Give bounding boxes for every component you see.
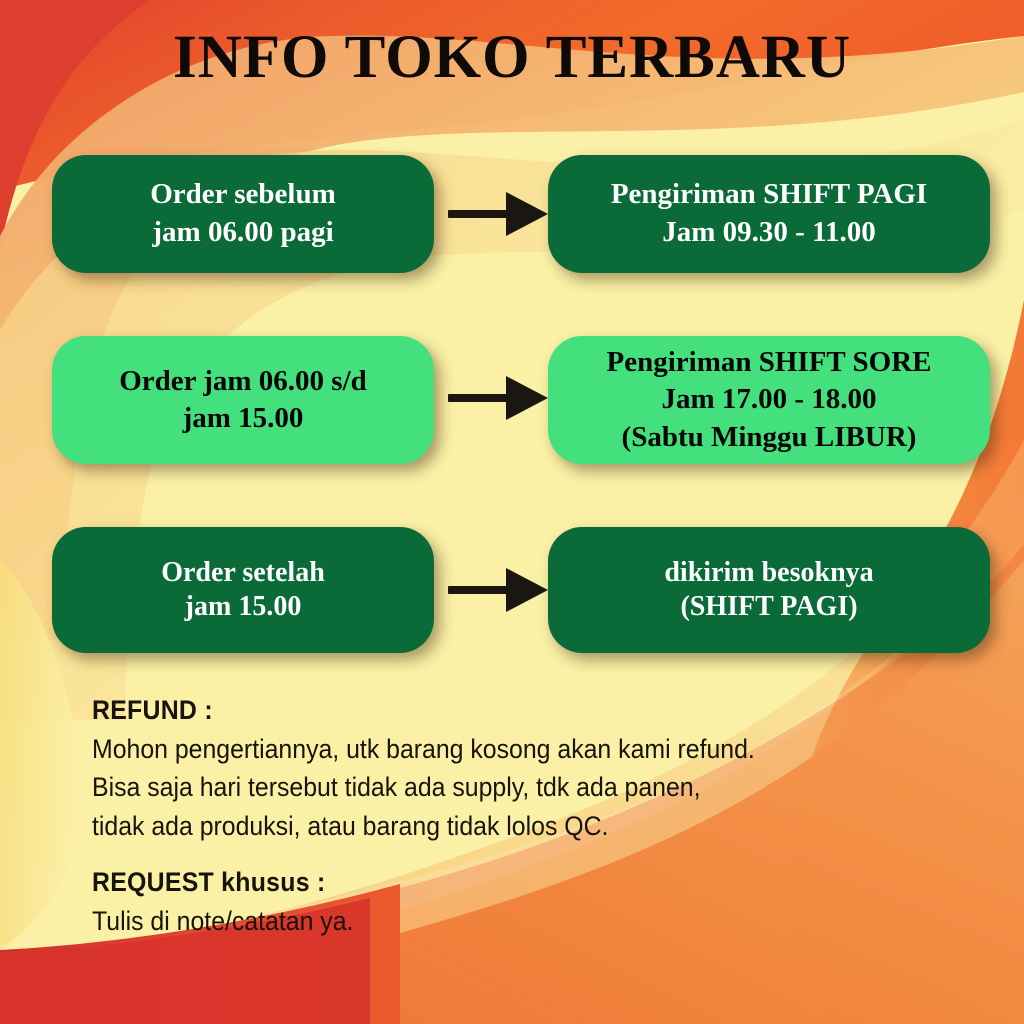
notes-section: REFUND : Mohon pengertiannya, utk barang…	[92, 695, 972, 940]
flow-result-box-2[interactable]: Pengiriman SHIFT SORE Jam 17.00 - 18.00 …	[548, 336, 990, 464]
flow-condition-box-3[interactable]: Order setelah jam 15.00	[52, 527, 434, 653]
arrow-shaft	[448, 586, 508, 594]
flow-condition-box-1[interactable]: Order sebelum jam 06.00 pagi	[52, 155, 434, 273]
request-heading: REQUEST khusus :	[92, 867, 902, 898]
page-title: INFO TOKO TERBARU	[0, 26, 1024, 90]
arrow-right-icon	[506, 192, 548, 236]
poster-canvas: INFO TOKO TERBARU Order sebelum jam 06.0…	[0, 0, 1024, 1024]
arrow-right-icon	[506, 376, 548, 420]
refund-line-2: Bisa saja hari tersebut tidak ada supply…	[92, 768, 902, 806]
arrow-shaft	[448, 210, 508, 218]
refund-line-3: tidak ada produksi, atau barang tidak lo…	[92, 807, 902, 845]
flow-condition-3-line2: jam 15.00	[62, 590, 424, 624]
flow-condition-3-line1: Order setelah	[62, 556, 424, 590]
flow-result-box-1[interactable]: Pengiriman SHIFT PAGI Jam 09.30 - 11.00	[548, 155, 990, 273]
flow-result-2-line2: Jam 17.00 - 18.00	[558, 381, 980, 418]
flow-result-1-line1: Pengiriman SHIFT PAGI	[558, 176, 980, 214]
arrow-right-icon	[506, 568, 548, 612]
notes-spacer	[92, 845, 972, 867]
flow-result-3-line2: (SHIFT PAGI)	[558, 590, 980, 624]
flow-condition-2-line1: Order jam 06.00 s/d	[62, 363, 424, 400]
refund-line-1: Mohon pengertiannya, utk barang kosong a…	[92, 730, 902, 768]
page-title-text: INFO TOKO TERBARU	[0, 26, 1024, 90]
refund-heading: REFUND :	[92, 695, 902, 726]
flow-result-3-line1: dikirim besoknya	[558, 556, 980, 590]
flow-result-2-line1: Pengiriman SHIFT SORE	[558, 344, 980, 381]
flow-result-box-3[interactable]: dikirim besoknya (SHIFT PAGI)	[548, 527, 990, 653]
flow-condition-box-2[interactable]: Order jam 06.00 s/d jam 15.00	[52, 336, 434, 464]
flow-condition-2-line2: jam 15.00	[62, 400, 424, 437]
flow-condition-1-line1: Order sebelum	[62, 176, 424, 214]
request-line-1: Tulis di note/catatan ya.	[92, 902, 902, 940]
flow-condition-1-line2: jam 06.00 pagi	[62, 214, 424, 252]
flow-result-2-line3: (Sabtu Minggu LIBUR)	[558, 419, 980, 456]
arrow-shaft	[448, 394, 508, 402]
flow-result-1-line2: Jam 09.30 - 11.00	[558, 214, 980, 252]
